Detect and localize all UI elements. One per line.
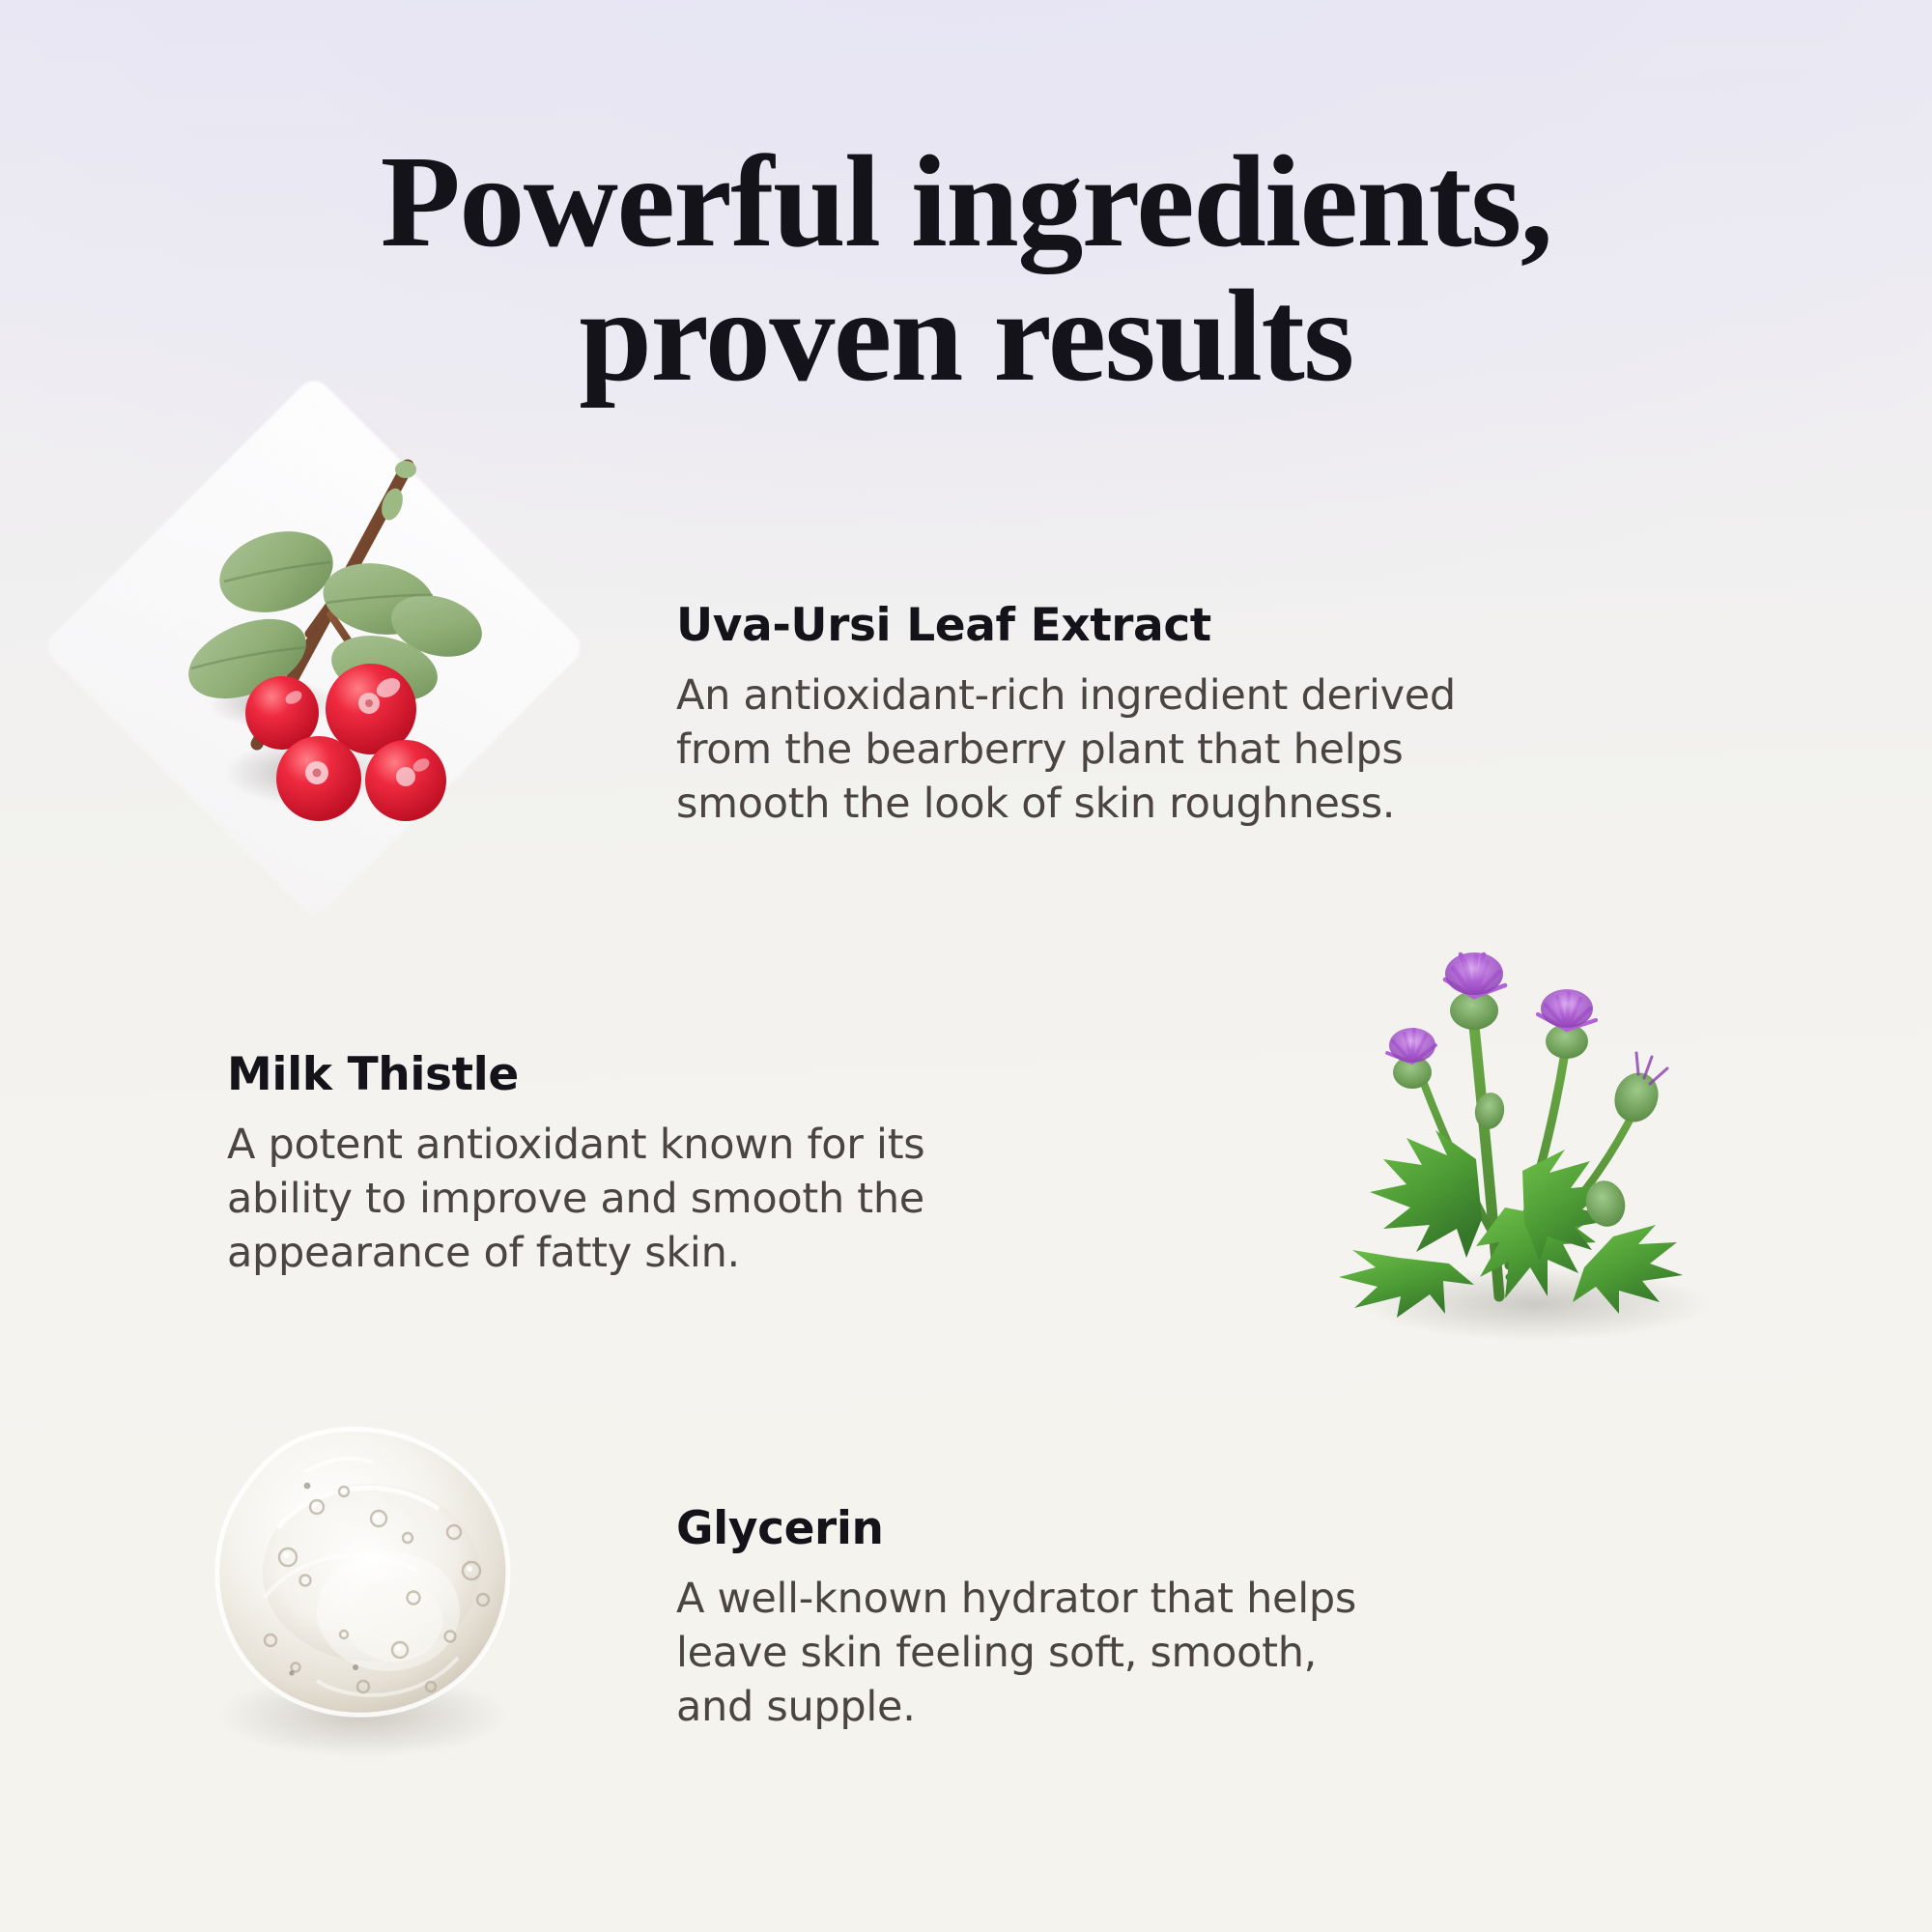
ingredients-infographic: Powerful ingredients, proven results: [0, 0, 1932, 1932]
ingredient-description: A potent antioxidant known for its abili…: [227, 1119, 1029, 1281]
ingredient-title: Milk Thistle: [227, 1048, 1029, 1101]
ingredient-description: An antioxidant-rich ingredient derived f…: [676, 669, 1575, 832]
ingredient-title: Glycerin: [676, 1502, 1478, 1555]
ingredient-glycerin: Glycerin A well-known hydrator that help…: [676, 1502, 1478, 1735]
ingredient-title: Uva-Ursi Leaf Extract: [676, 599, 1575, 652]
bearberry-sprig-image: [164, 454, 512, 908]
ingredient-uva-ursi: Uva-Ursi Leaf Extract An antioxidant-ric…: [676, 599, 1575, 832]
milk-thistle-plant-image: [1246, 918, 1787, 1352]
ingredient-milk-thistle: Milk Thistle A potent antioxidant known …: [227, 1048, 1029, 1281]
page-title: Powerful ingredients, proven results: [0, 135, 1932, 403]
headline-line-2: proven results: [0, 270, 1932, 404]
ingredient-description: A well-known hydrator that helps leave s…: [676, 1573, 1478, 1735]
glycerin-gel-droplet-image: [164, 1391, 551, 1777]
headline-line-1: Powerful ingredients,: [381, 129, 1552, 274]
